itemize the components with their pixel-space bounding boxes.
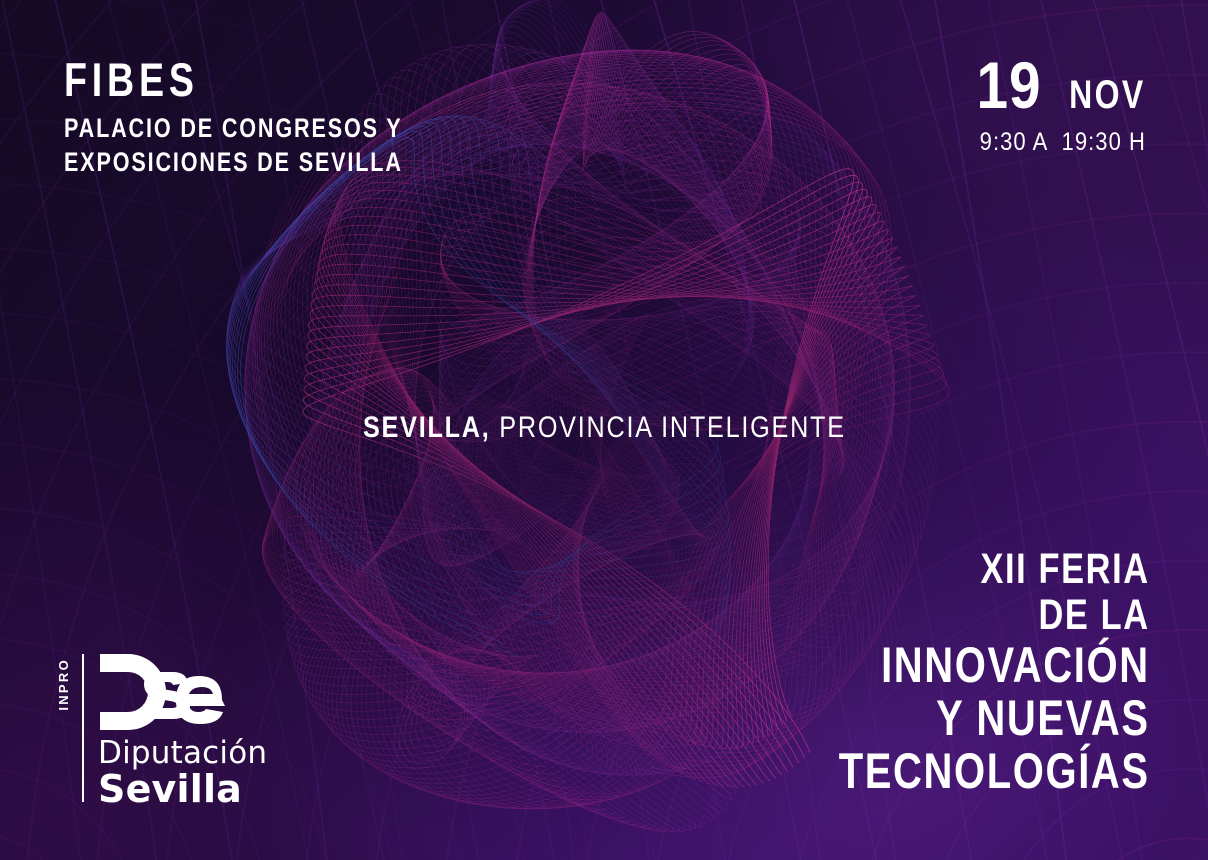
logo-divider [82, 654, 84, 802]
venue-name: FIBES [64, 56, 403, 103]
venue-block: FIBES PALACIO DE CONGRESOS Y EXPOSICIONE… [64, 56, 487, 180]
dse-monogram-icon [98, 650, 226, 734]
date-block: 19 NOV 9:30 A 19:30 H [957, 54, 1146, 157]
date-row: 19 NOV [957, 54, 1146, 117]
logo-main: Diputación Sevilla [95, 650, 267, 808]
inpro-wrap: INPRO [56, 650, 71, 808]
date-hours: 9:30 A 19:30 H [980, 128, 1146, 157]
title-line-4: Y NUEVAS [839, 693, 1150, 743]
venue-line-2: EXPOSICIONES DE SEVILLA [64, 146, 403, 180]
event-title-block: XII FERIA DE LA INNOVACIÓN Y NUEVAS TECN… [761, 548, 1150, 796]
tagline: SEVILLA, PROVINCIA INTELIGENTE [0, 411, 1208, 445]
event-poster: FIBES PALACIO DE CONGRESOS Y EXPOSICIONE… [0, 0, 1208, 860]
tagline-light: PROVINCIA INTELIGENTE [490, 411, 845, 444]
date-month: NOV [1069, 75, 1146, 115]
title-line-2: DE LA [839, 594, 1150, 637]
venue-line-1: PALACIO DE CONGRESOS Y [64, 112, 403, 146]
logo-block: INPRO Diputación Sevilla [56, 650, 267, 808]
title-line-1: XII FERIA [839, 548, 1150, 591]
logo-word-diputacion: Diputación [98, 737, 267, 770]
inpro-label: INPRO [56, 658, 71, 711]
logo-word-sevilla: Sevilla [98, 770, 267, 808]
tagline-inner: SEVILLA, PROVINCIA INTELIGENTE [363, 411, 846, 445]
title-line-3: INNOVACIÓN [839, 640, 1150, 690]
tagline-strong: SEVILLA, [363, 411, 491, 444]
title-line-5: TECNOLOGÍAS [839, 746, 1150, 796]
date-day: 19 [976, 54, 1041, 117]
